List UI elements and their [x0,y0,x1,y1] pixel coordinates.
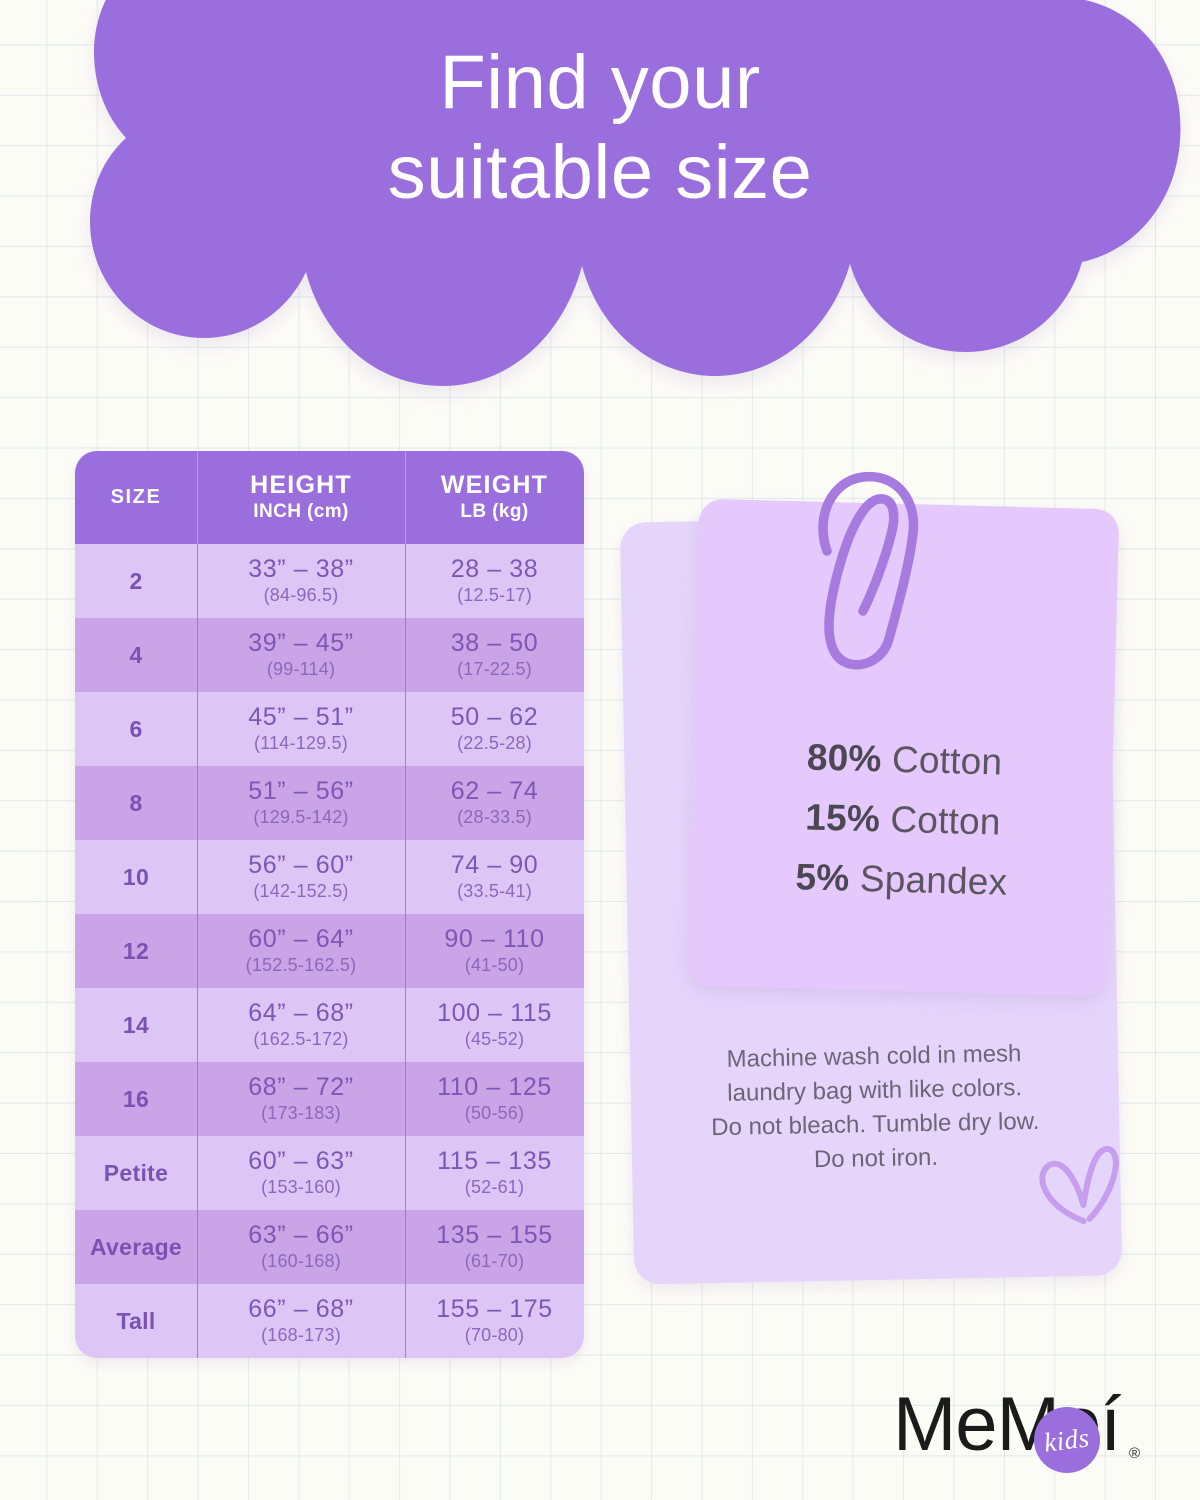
cell-weight-kg: (70-80) [465,1325,524,1346]
fabric-line: 5% Spandex [691,844,1112,915]
cell-size: 6 [75,692,197,766]
fabric-percent: 15% [805,796,881,839]
cell-weight-kg: (52-61) [465,1177,524,1198]
table-row: 1464” – 68”(162.5-172)100 – 115(45-52) [75,988,584,1062]
column-header-weight-label: WEIGHT [441,472,548,500]
paperclip-icon [805,463,935,678]
cell-height-inches: 66” – 68” [248,1296,353,1322]
cell-height: 60” – 64”(152.5-162.5) [197,914,405,988]
fabric-percent: 5% [795,856,850,898]
cell-size: 4 [75,618,197,692]
cell-weight: 28 – 38(12.5-17) [405,544,584,618]
cell-height-cm: (142-152.5) [253,881,348,902]
cell-height: 68” – 72”(173-183) [197,1062,405,1136]
fabric-material: Spandex [859,858,1007,903]
brand-logo: MeMoí kids ® [893,1391,1148,1491]
cell-weight: 115 – 135(52-61) [405,1136,584,1210]
cell-size-value: 10 [123,864,149,891]
cell-size: 2 [75,544,197,618]
cell-weight-kg: (28-33.5) [457,807,532,828]
cell-height-inches: 56” – 60” [248,852,353,878]
cell-size-value: Average [90,1234,182,1261]
table-row: 645” – 51”(114-129.5)50 – 62(22.5-28) [75,692,584,766]
registered-trademark-symbol: ® [1129,1445,1140,1462]
cell-weight: 74 – 90(33.5-41) [405,840,584,914]
cell-weight: 135 – 155(61-70) [405,1210,584,1284]
table-row: 1668” – 72”(173-183)110 – 125(50-56) [75,1062,584,1136]
cell-weight-lb: 90 – 110 [444,926,544,952]
cell-weight-kg: (17-22.5) [457,659,532,680]
cell-height-inches: 51” – 56” [248,778,353,804]
info-card-stack: 80% Cotton15% Cotton5% Spandex Machine w… [620,495,1140,1285]
cell-weight-lb: 110 – 125 [437,1074,552,1100]
fabric-line: 15% Cotton [692,784,1113,855]
column-header-height-unit: INCH (cm) [253,501,348,523]
cell-height-cm: (114-129.5) [254,733,348,754]
table-row: Tall66” – 68”(168-173)155 – 175(70-80) [75,1284,584,1358]
cell-height-cm: (84-96.5) [264,585,339,606]
cell-weight-lb: 38 – 50 [451,630,539,656]
cell-size-value: 12 [123,938,149,965]
cell-height: 64” – 68”(162.5-172) [197,988,405,1062]
column-header-size-label: SIZE [111,486,162,509]
cell-height: 51” – 56”(129.5-142) [197,766,405,840]
cell-size-value: 6 [129,716,142,743]
table-row: 1260” – 64”(152.5-162.5)90 – 110(41-50) [75,914,584,988]
table-row: Average63” – 66”(160-168)135 – 155(61-70… [75,1210,584,1284]
fabric-line: 80% Cotton [694,725,1115,796]
cell-size-value: 14 [123,1012,149,1039]
cell-height-cm: (99-114) [267,659,335,680]
cell-size-value: Tall [116,1308,155,1335]
cell-height-inches: 60” – 63” [248,1148,353,1174]
cell-size: Average [75,1210,197,1284]
cell-weight: 50 – 62(22.5-28) [405,692,584,766]
cell-height: 39” – 45”(99-114) [197,618,405,692]
table-row: 1056” – 60”(142-152.5)74 – 90(33.5-41) [75,840,584,914]
cell-size-value: 16 [123,1086,149,1113]
cell-weight-lb: 100 – 115 [437,1000,552,1026]
cell-height-cm: (160-168) [261,1251,341,1272]
cell-weight-kg: (45-52) [465,1029,524,1050]
cell-height-cm: (168-173) [261,1325,341,1346]
cell-height: 45” – 51”(114-129.5) [197,692,405,766]
table-body: 233” – 38”(84-96.5)28 – 38(12.5-17)439” … [75,544,584,1358]
cell-height-cm: (162.5-172) [253,1029,348,1050]
cell-height-cm: (152.5-162.5) [246,955,357,976]
fabric-material: Cotton [892,739,1003,783]
cell-weight: 110 – 125(50-56) [405,1062,584,1136]
table-row: 233” – 38”(84-96.5)28 – 38(12.5-17) [75,544,584,618]
cell-height-inches: 68” – 72” [248,1074,353,1100]
cell-height-inches: 63” – 66” [248,1222,353,1248]
cell-size: 10 [75,840,197,914]
cell-weight-kg: (41-50) [465,955,524,976]
heart-doodle-icon [1036,1142,1124,1232]
cell-height: 66” – 68”(168-173) [197,1284,405,1358]
cell-height: 56” – 60”(142-152.5) [197,840,405,914]
table-header-row: SIZE HEIGHT INCH (cm) WEIGHT LB (kg) [75,451,584,544]
cell-weight-lb: 155 – 175 [436,1296,553,1322]
cell-height: 63” – 66”(160-168) [197,1210,405,1284]
cell-size: 14 [75,988,197,1062]
page-title: Find your suitable size [0,38,1200,217]
cell-height-inches: 45” – 51” [248,704,353,730]
column-header-weight: WEIGHT LB (kg) [405,451,584,544]
cell-weight-kg: (50-56) [465,1103,524,1124]
cell-height-inches: 64” – 68” [248,1000,353,1026]
cell-weight-lb: 62 – 74 [451,778,539,804]
cell-height-cm: (129.5-142) [253,807,348,828]
cell-size: 12 [75,914,197,988]
cell-height: 60” – 63”(153-160) [197,1136,405,1210]
cell-weight-kg: (12.5-17) [457,585,532,606]
fabric-material: Cotton [890,799,1001,843]
cell-weight-lb: 28 – 38 [451,556,539,582]
cell-weight: 155 – 175(70-80) [405,1284,584,1358]
table-row: 439” – 45”(99-114)38 – 50(17-22.5) [75,618,584,692]
cell-weight-lb: 115 – 135 [437,1148,552,1174]
cell-size-value: 4 [129,642,142,669]
cell-weight: 100 – 115(45-52) [405,988,584,1062]
cell-height-inches: 39” – 45” [248,630,353,656]
cell-weight-lb: 74 – 90 [451,852,539,878]
column-header-height: HEIGHT INCH (cm) [197,451,405,544]
column-header-weight-unit: LB (kg) [460,501,528,523]
cell-weight-kg: (61-70) [465,1251,524,1272]
column-header-size: SIZE [75,451,197,544]
cell-size: 16 [75,1062,197,1136]
cell-weight-lb: 135 – 155 [436,1222,553,1248]
cell-weight-lb: 50 – 62 [451,704,539,730]
cell-height-inches: 33” – 38” [248,556,353,582]
cell-size-value: Petite [104,1160,168,1187]
column-header-height-label: HEIGHT [250,472,352,500]
cell-height-cm: (153-160) [261,1177,341,1198]
logo-kids-badge: kids [1034,1407,1100,1473]
fabric-composition-list: 80% Cotton15% Cotton5% Spandex [691,725,1116,916]
cell-weight: 90 – 110(41-50) [405,914,584,988]
table-row: 851” – 56”(129.5-142)62 – 74(28-33.5) [75,766,584,840]
cell-height: 33” – 38”(84-96.5) [197,544,405,618]
cell-height-cm: (173-183) [261,1103,341,1124]
cell-weight: 62 – 74(28-33.5) [405,766,584,840]
cell-size-value: 2 [129,568,142,595]
cell-size: 8 [75,766,197,840]
cell-weight: 38 – 50(17-22.5) [405,618,584,692]
cell-weight-kg: (33.5-41) [457,881,532,902]
table-row: Petite60” – 63”(153-160)115 – 135(52-61) [75,1136,584,1210]
cell-size: Petite [75,1136,197,1210]
cell-weight-kg: (22.5-28) [457,733,532,754]
cell-size: Tall [75,1284,197,1358]
logo-kids-label: kids [1043,1422,1092,1458]
size-chart-table: SIZE HEIGHT INCH (cm) WEIGHT LB (kg) 233… [75,451,584,1358]
fabric-percent: 80% [806,736,882,779]
cell-size-value: 8 [129,790,142,817]
cell-height-inches: 60” – 64” [248,926,353,952]
